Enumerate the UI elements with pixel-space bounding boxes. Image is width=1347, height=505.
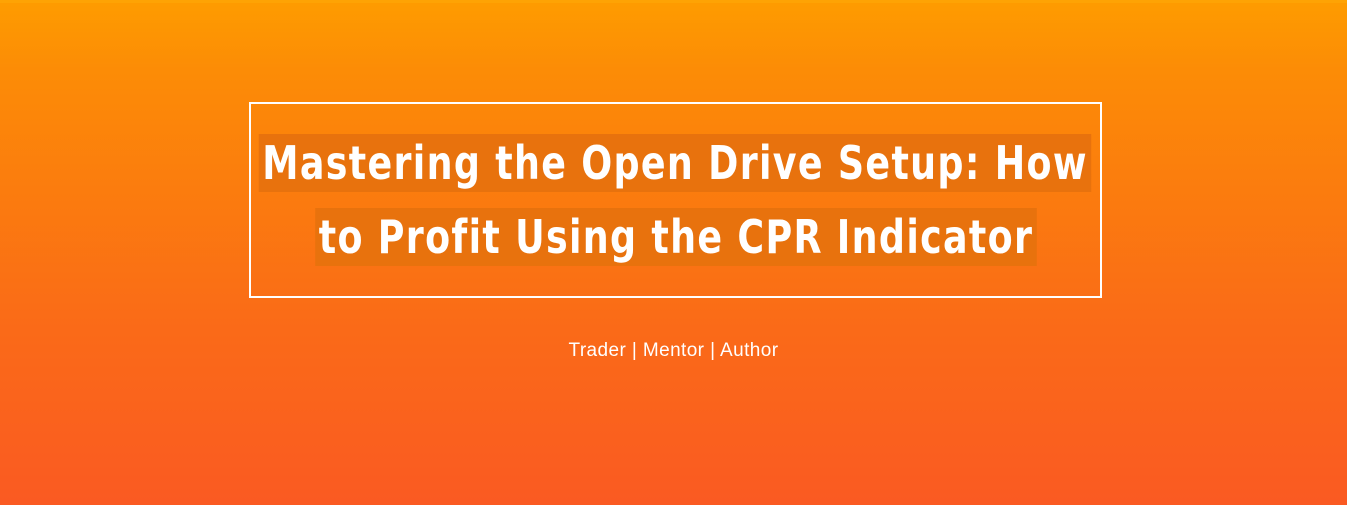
top-accent-strip: [0, 0, 1347, 3]
subtitle-tagline: Trader | Mentor | Author: [0, 340, 1347, 362]
page-title: Mastering the Open Drive Setup: How to P…: [249, 102, 1102, 298]
headline-line-2: to Profit Using the CPR Indicator: [315, 208, 1037, 266]
hero-banner: Mastering the Open Drive Setup: How to P…: [0, 0, 1347, 505]
headline-line-1: Mastering the Open Drive Setup: How: [259, 134, 1092, 192]
